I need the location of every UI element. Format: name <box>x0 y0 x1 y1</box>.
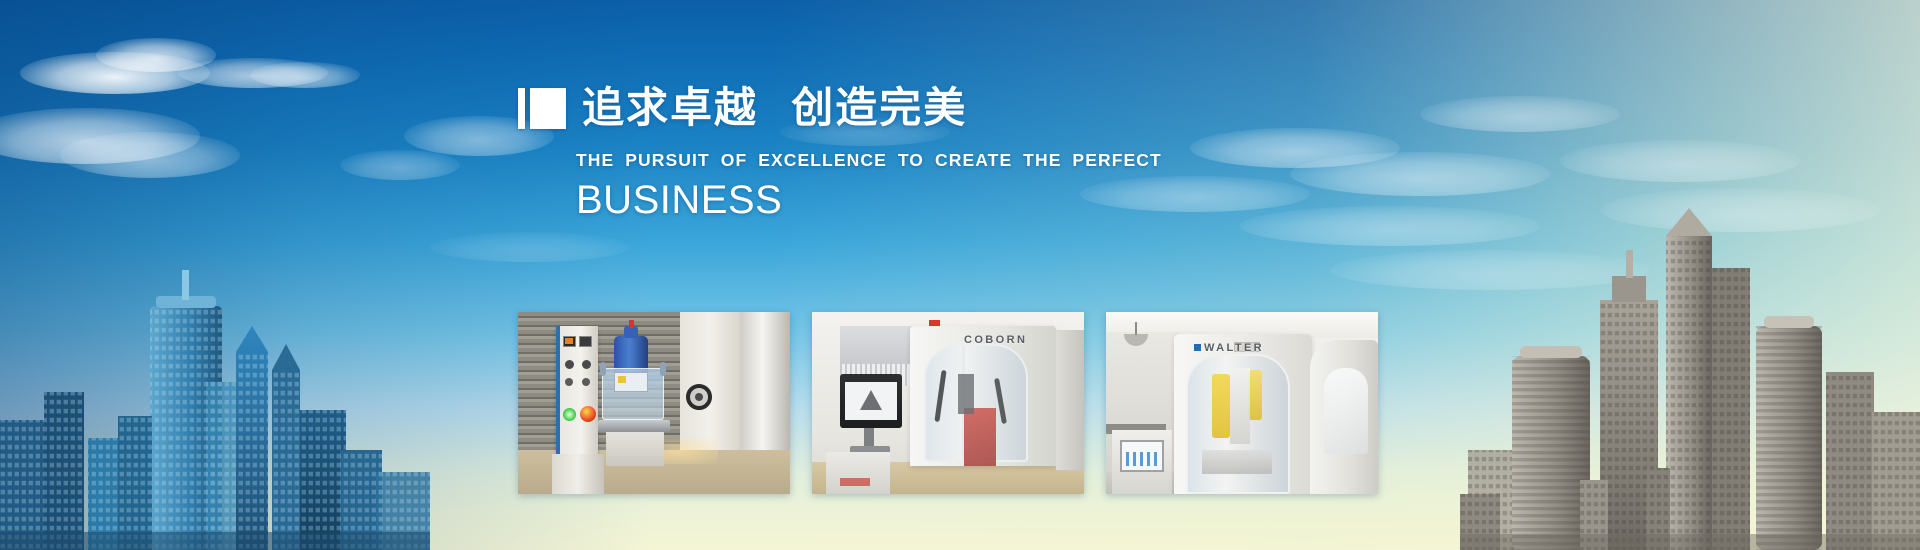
product-photo-2[interactable]: COBORN <box>812 312 1084 494</box>
brand-logo <box>518 88 566 129</box>
photo1-guard-post <box>660 362 666 376</box>
photo1-knob <box>565 360 574 369</box>
photo2-side-cabinet <box>826 452 890 494</box>
photo1-red-tip <box>629 320 634 328</box>
cloud-icon <box>1600 188 1880 232</box>
cloud-icon <box>96 38 216 72</box>
cloud-icon <box>1240 206 1540 246</box>
photo1-emergency-stop <box>580 406 596 422</box>
photo2-interior-workpiece <box>964 408 996 466</box>
photo2-hmi-graphic <box>860 390 882 410</box>
photo1-cabinet-screen2 <box>579 336 592 347</box>
product-photo-strip: COBORN <box>518 312 1378 494</box>
subheadline-english: THE PURSUIT OF EXCELLENCE TO CREATE THE … <box>576 150 1158 171</box>
cloud-icon <box>340 150 460 180</box>
logo-square-icon <box>530 88 566 129</box>
photo1-knob <box>565 378 573 386</box>
cloud-icon <box>1560 140 1800 182</box>
photo3-interior-spindle <box>1230 368 1250 444</box>
cloud-icon <box>430 232 630 262</box>
headline-row: 追求卓越 创造完美 <box>518 82 1158 134</box>
skyline-right <box>1460 150 1920 550</box>
cloud-icon <box>0 108 200 164</box>
photo1-column <box>740 312 790 472</box>
cloud-icon <box>1190 128 1400 168</box>
cloud-icon <box>250 62 360 88</box>
photo1-guard-post <box>600 362 606 376</box>
photo1-work-table <box>598 420 670 432</box>
product-photo-1[interactable] <box>518 312 790 494</box>
cloud-icon <box>60 132 240 178</box>
hero-text-block: 追求卓越 创造完美 THE PURSUIT OF EXCELLENCE TO C… <box>518 82 1158 221</box>
photo3-console-bars <box>1126 452 1158 466</box>
photo2-side-cabinet-label <box>840 478 870 486</box>
photo3-logo-tick-icon <box>1194 344 1201 351</box>
hero-banner: 追求卓越 创造完美 THE PURSUIT OF EXCELLENCE TO C… <box>0 0 1920 550</box>
product-photo-3[interactable]: WALTER <box>1106 312 1378 494</box>
photo1-warning-label <box>618 376 626 383</box>
cloud-icon <box>1290 152 1550 196</box>
photo3-interior-base <box>1202 450 1272 474</box>
photo1-green-lamp <box>563 408 576 421</box>
photo2-hmi-stand <box>864 428 874 448</box>
headline-chinese: 追求卓越 创造完美 <box>582 87 967 129</box>
photo3-interior-shield <box>1212 374 1230 438</box>
photo1-indicator-orange <box>565 338 573 344</box>
photo1-knob <box>582 360 591 369</box>
cloud-icon <box>178 58 328 88</box>
photo1-handwheel-hub <box>695 393 703 401</box>
headline-business-word: BUSINESS <box>576 179 1158 221</box>
photo2-right-panel <box>1056 330 1084 470</box>
cloud-icon <box>1420 96 1620 132</box>
photo2-interior-spindle <box>958 374 974 414</box>
photo3-interior-shield <box>1248 370 1262 420</box>
photo3-brand-label: WALTER <box>1204 342 1264 354</box>
photo3-pendant-cord <box>1135 322 1137 335</box>
photo2-brand-label: COBORN <box>964 334 1027 346</box>
photo3-right-window <box>1324 368 1368 454</box>
photo1-machine-base <box>606 432 664 466</box>
photo1-cabinet-base <box>552 454 604 494</box>
photo1-knob <box>582 378 590 386</box>
cloud-icon <box>1330 250 1650 290</box>
skyline-left <box>0 120 430 550</box>
cloud-icon <box>20 52 210 94</box>
logo-bar-icon <box>518 88 525 129</box>
